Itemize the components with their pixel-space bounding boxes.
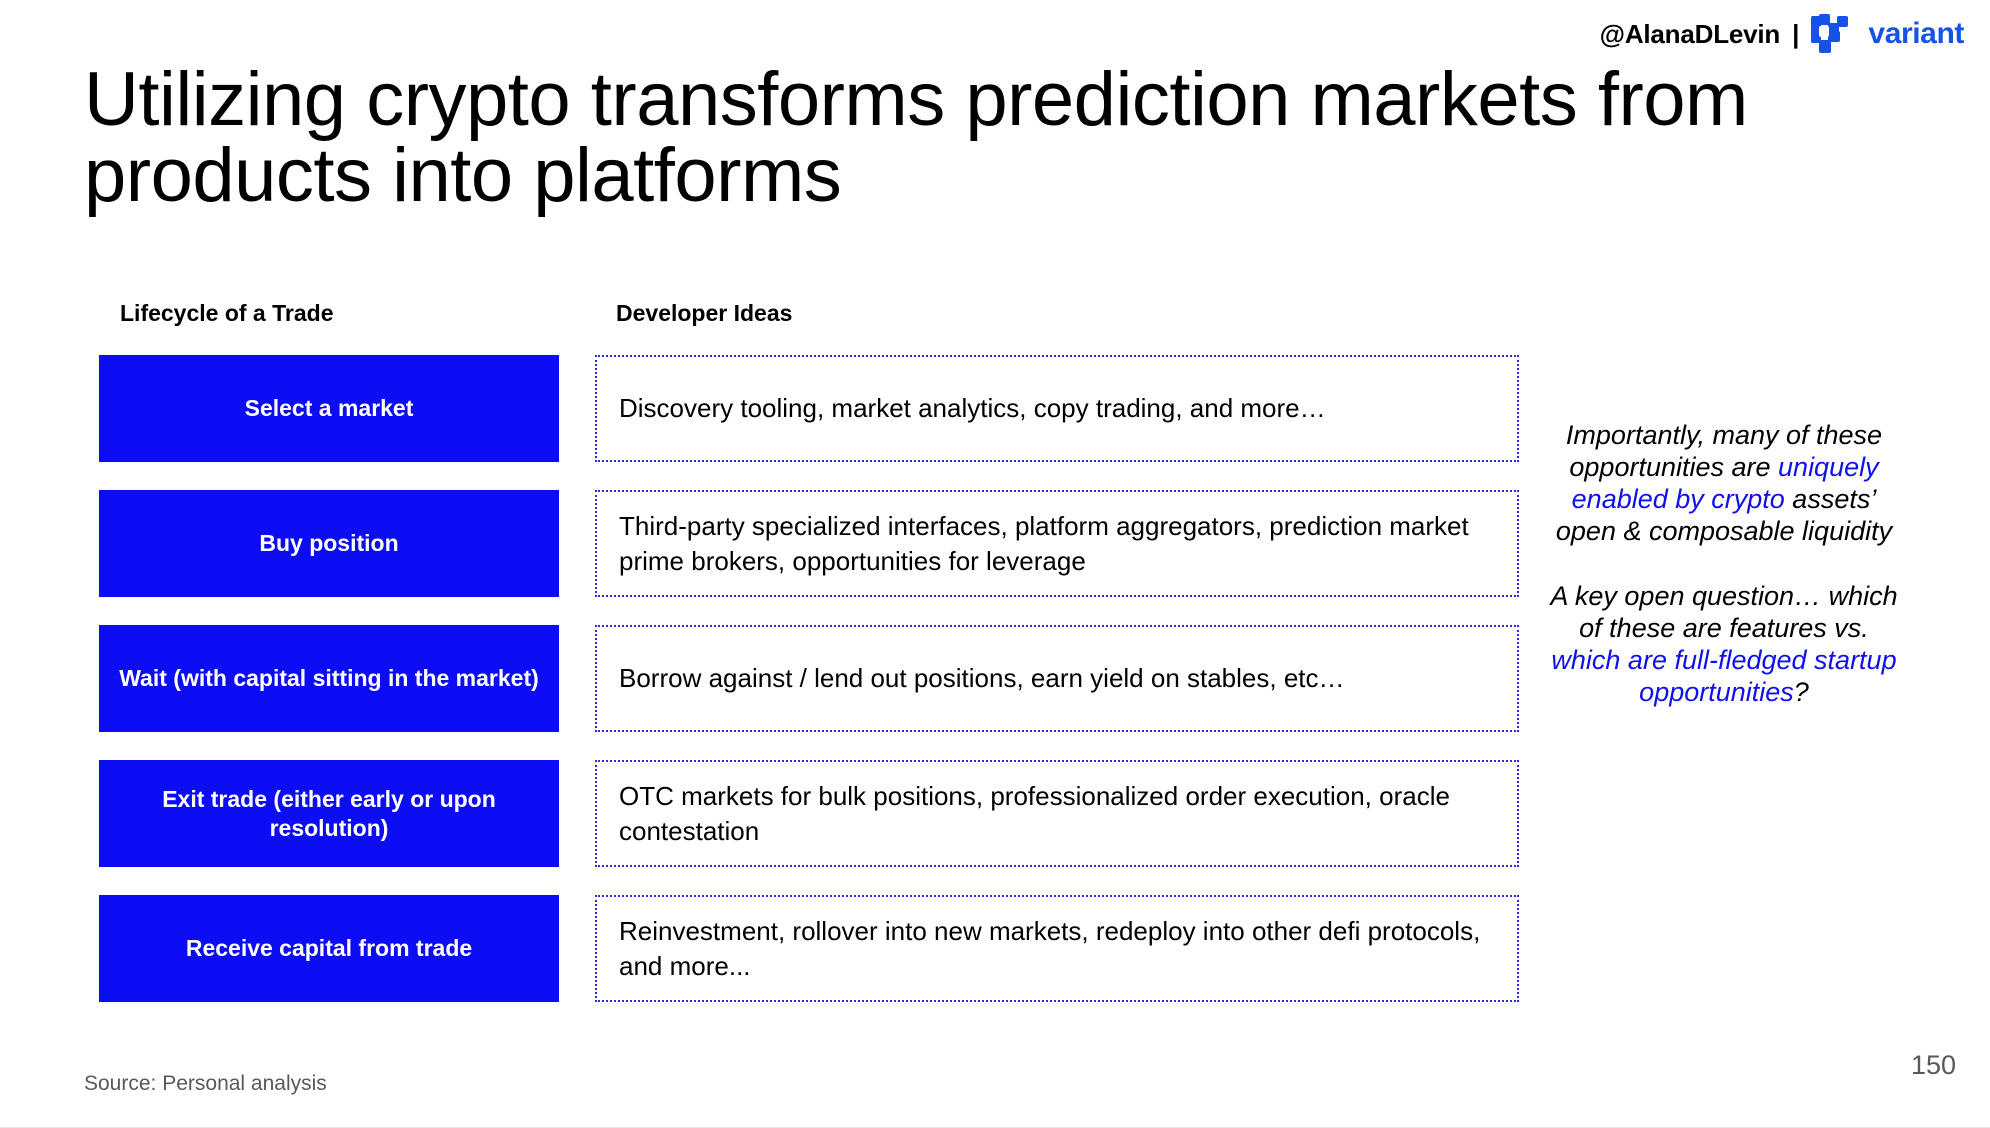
idea-text: OTC markets for bulk positions, professi… <box>619 779 1495 848</box>
stage-box[interactable]: Exit trade (either early or upon resolut… <box>99 760 559 867</box>
idea-box[interactable]: Borrow against / lend out positions, ear… <box>595 625 1519 732</box>
stage-box[interactable]: Buy position <box>99 490 559 597</box>
page-number: 150 <box>1911 1050 1956 1081</box>
commentary-p2-highlight: which are full-fledged startup opportuni… <box>1551 645 1896 707</box>
brand-bar: @AlanaDLevin | variant <box>1600 10 1964 58</box>
commentary-p2-lead: A key open question… which of these are … <box>1550 581 1897 643</box>
commentary-paragraph-2: A key open question… which of these are … <box>1548 581 1900 708</box>
column-header-developer-ideas: Developer Ideas <box>616 300 792 327</box>
row-gap <box>559 355 595 462</box>
stage-box[interactable]: Select a market <box>99 355 559 462</box>
row-gap <box>559 760 595 867</box>
commentary-p2-tail: ? <box>1794 677 1809 707</box>
idea-text: Reinvestment, rollover into new markets,… <box>619 914 1495 983</box>
idea-text: Third-party specialized interfaces, plat… <box>619 509 1495 578</box>
flow-row: Select a market Discovery tooling, marke… <box>99 355 1519 462</box>
idea-box[interactable]: Third-party specialized interfaces, plat… <box>595 490 1519 597</box>
page-title: Utilizing crypto transforms prediction m… <box>84 62 1874 214</box>
brand-name: variant <box>1868 19 1964 49</box>
flow-row: Buy position Third-party specialized int… <box>99 490 1519 597</box>
idea-box[interactable]: OTC markets for bulk positions, professi… <box>595 760 1519 867</box>
brand-divider: | <box>1792 21 1799 47</box>
variant-logo-icon <box>1811 14 1857 54</box>
row-gap <box>559 490 595 597</box>
flow-row: Receive capital from trade Reinvestment,… <box>99 895 1519 1002</box>
row-gap <box>559 625 595 732</box>
idea-text: Borrow against / lend out positions, ear… <box>619 661 1345 695</box>
commentary-panel: Importantly, many of these opportunities… <box>1548 420 1900 709</box>
commentary-paragraph-1: Importantly, many of these opportunities… <box>1548 420 1900 547</box>
column-header-lifecycle: Lifecycle of a Trade <box>120 300 333 327</box>
commentary-spacer <box>1548 547 1900 581</box>
lifecycle-flow: Select a market Discovery tooling, marke… <box>99 355 1519 1002</box>
stage-box[interactable]: Wait (with capital sitting in the market… <box>99 625 559 732</box>
idea-box[interactable]: Reinvestment, rollover into new markets,… <box>595 895 1519 1002</box>
idea-text: Discovery tooling, market analytics, cop… <box>619 391 1326 425</box>
slide: @AlanaDLevin | variant Utilizing crypto … <box>0 0 1990 1128</box>
source-note: Source: Personal analysis <box>84 1072 327 1096</box>
idea-box[interactable]: Discovery tooling, market analytics, cop… <box>595 355 1519 462</box>
flow-row: Exit trade (either early or upon resolut… <box>99 760 1519 867</box>
stage-box[interactable]: Receive capital from trade <box>99 895 559 1002</box>
row-gap <box>559 895 595 1002</box>
author-handle: @AlanaDLevin <box>1600 21 1780 47</box>
flow-row: Wait (with capital sitting in the market… <box>99 625 1519 732</box>
